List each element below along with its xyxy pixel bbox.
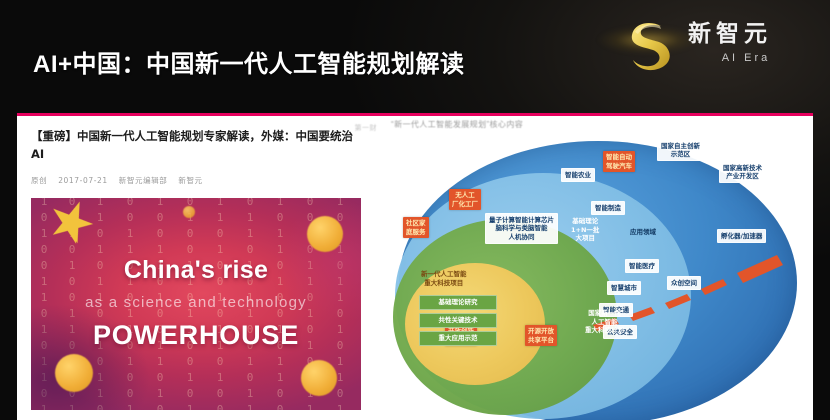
label-innovation-demo-zone: 国家自主创新示范区 (657, 139, 704, 161)
ai-plan-venn-diagram: “新一代人工智能发展规划”核心内容 智能自动驾驶汽车 国家自主创新示范区 国家高… (385, 113, 813, 420)
article-source: 原创 (31, 176, 47, 185)
slide-header: AI+中国：中国新一代人工智能规划解读 新智元 (0, 0, 830, 108)
circle-decor (307, 216, 343, 252)
swirl-s-logo-icon (620, 16, 680, 74)
brand-name-cn: 新智元 (688, 14, 810, 48)
brand-name-en: AI Era (688, 52, 810, 64)
label-hi-tech-zone: 国家高新技术产业开发区 (719, 161, 766, 183)
label-smart-agriculture: 智能农业 (561, 168, 595, 182)
article-date: 2017-07-21 (58, 176, 108, 185)
article-meta: 原创 2017-07-21 新智元编辑部 新智元 (31, 175, 281, 186)
red-dashed-arrow (385, 113, 813, 420)
core-item-2: 共性关键技术 (419, 313, 497, 328)
label-basic-theory: 基础理论1+N一批大项目 (571, 217, 599, 243)
label-smart-medical: 智能医疗 (625, 259, 659, 273)
circle-decor (55, 354, 93, 392)
page-title: AI+中国：中国新一代人工智能规划解读 (33, 44, 465, 79)
brand-text: 新智元 AI Era (688, 14, 810, 64)
brand-logo: 新智元 AI Era (616, 12, 812, 78)
content-panel: 第一财 【重磅】中国新一代人工智能规划专家解读，外媒：中国要统治AI 原创 20… (17, 113, 813, 420)
photo-line-3: POWERHOUSE (31, 320, 361, 351)
label-smart-manufacturing: 智能制造 (591, 201, 625, 215)
presentation-slide: AI+中国：中国新一代人工智能规划解读 新智元 (0, 0, 830, 420)
core-title: 新一代人工智能重大科技项目 (421, 271, 467, 288)
label-open-source-platform: 开源开放共享平台 (525, 325, 557, 346)
core-item-3: 重大应用示范 (419, 331, 497, 346)
star-icon (49, 209, 93, 235)
circle-decor (301, 360, 337, 396)
article-account: 新智元 (178, 176, 202, 185)
photo-line-1: China's rise (31, 256, 361, 285)
article-headline: 【重磅】中国新一代人工智能规划专家解读，外媒：中国要统治AI (31, 127, 361, 163)
article-cover-photo: 1 0 1 0 0 1 1 0 1 0 1 1 0 1 0 1 1 0 1 0 … (31, 198, 361, 410)
label-maker-space: 众创空间 (667, 276, 701, 290)
label-incubator: 孵化器/加速器 (717, 229, 766, 243)
circle-decor (183, 206, 195, 218)
photo-line-2: as a science and technology (31, 294, 361, 311)
label-unmanned-factory: 无人工厂化工厂 (449, 189, 481, 210)
label-application-domain: 应用领域 (630, 228, 656, 237)
label-national-ai-program: 国家新一代人工智能重大科技计划 (585, 309, 624, 335)
label-smart-driving: 智能自动驾驶汽车 (603, 151, 635, 172)
label-community-service: 社区家庭服务 (403, 217, 429, 238)
core-item-1: 基础理论研究 (419, 295, 497, 310)
article-author: 新智元编辑部 (119, 176, 168, 185)
label-smart-city: 智慧城市 (607, 281, 641, 295)
label-key-technologies: 量子计算智能计算芯片脑科学与类脑智能人机协同 (485, 213, 558, 244)
wechat-article-screenshot: 第一财 【重磅】中国新一代人工智能规划专家解读，外媒：中国要统治AI 原创 20… (17, 113, 385, 420)
